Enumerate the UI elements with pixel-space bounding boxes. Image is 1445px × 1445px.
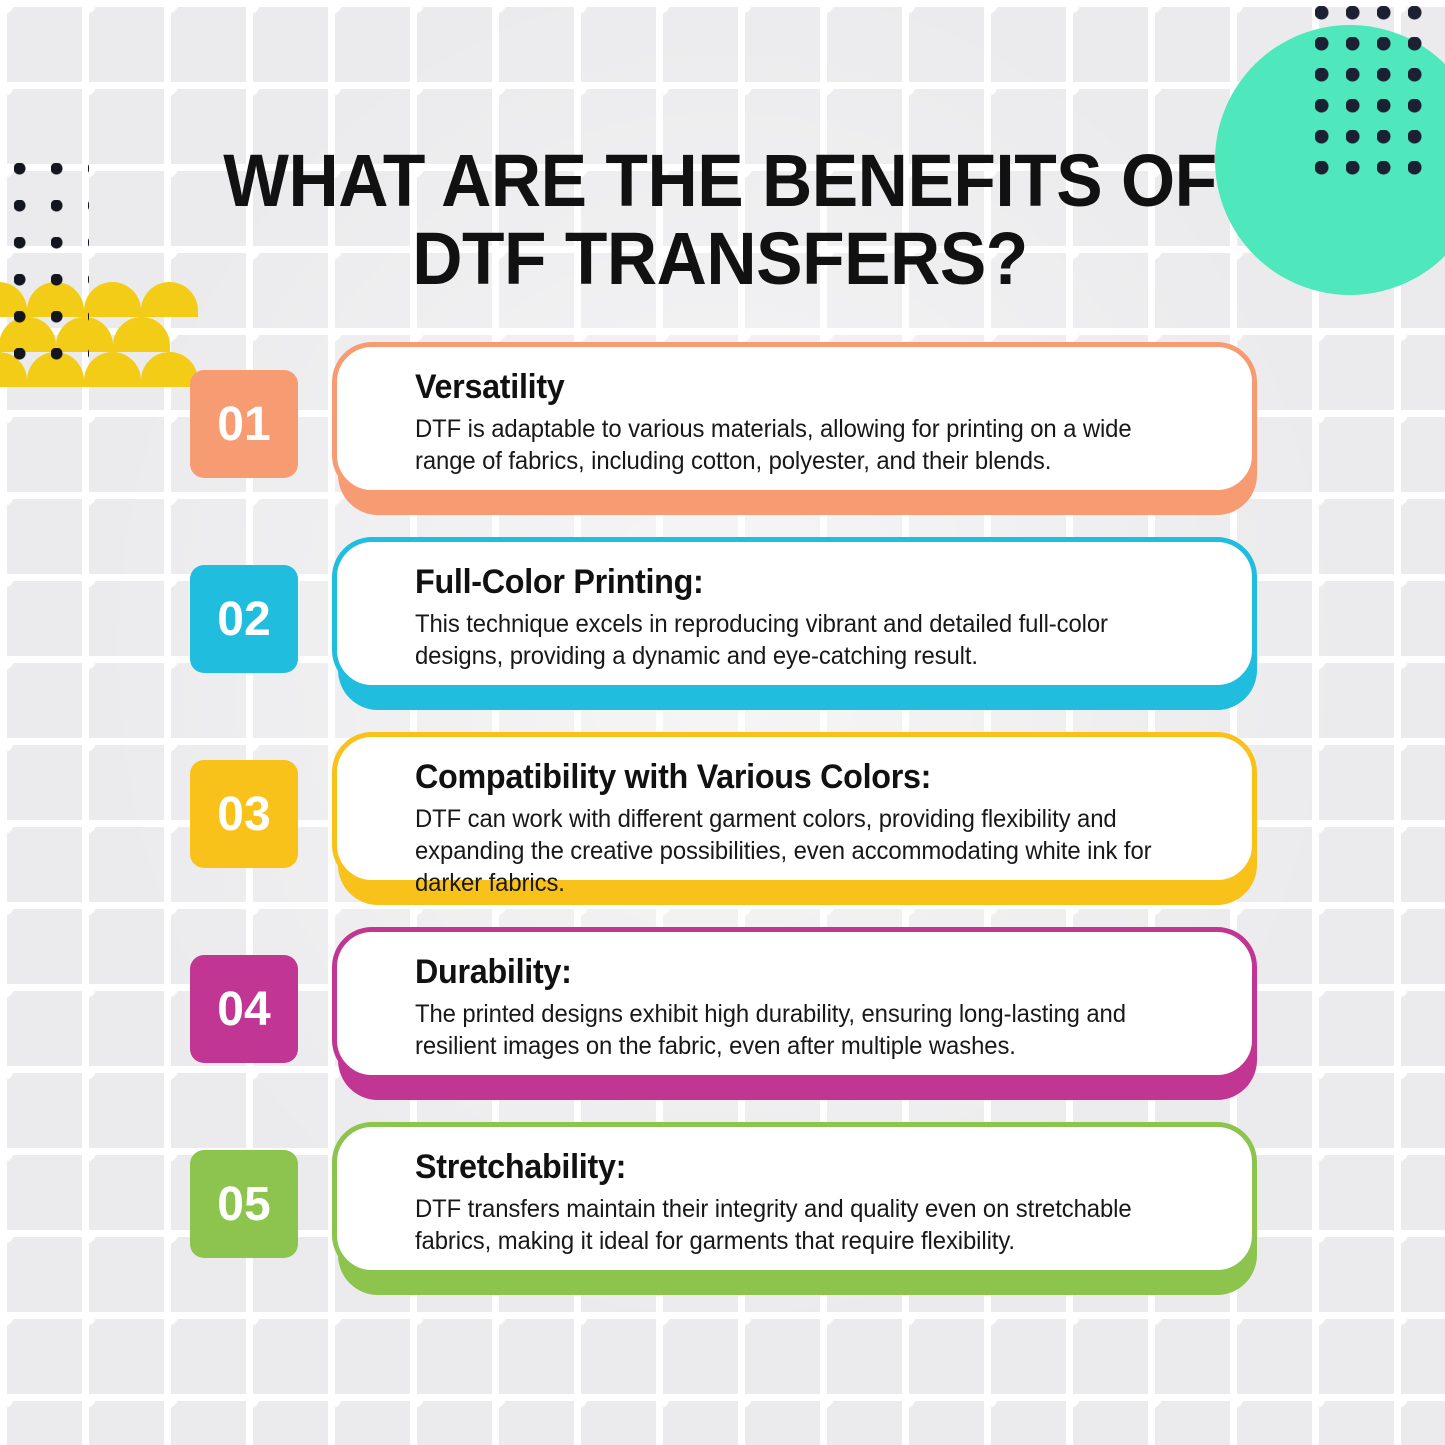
card-surface: Full-Color Printing: This technique exce… [332,537,1257,690]
card-body: DTF can work with different garment colo… [415,803,1182,899]
card-title: Stretchability: [415,1147,1178,1187]
item-number-badge-03: 03 [190,760,298,868]
benefit-card-02[interactable]: Full-Color Printing: This technique exce… [332,537,1257,707]
card-body: DTF transfers maintain their integrity a… [415,1193,1182,1257]
list-item: 04 Durability: The printed designs exhib… [0,927,1445,1122]
item-number-badge-02: 02 [190,565,298,673]
benefit-card-05[interactable]: Stretchability: DTF transfers maintain t… [332,1122,1257,1292]
dot-grid-top-right-decoration [1315,6,1439,188]
item-number-label: 04 [217,982,270,1037]
item-number-badge-05: 05 [190,1150,298,1258]
card-body: DTF is adaptable to various materials, a… [415,413,1182,477]
list-item: 03 Compatibility with Various Colors: DT… [0,732,1445,927]
item-number-badge-01: 01 [190,370,298,478]
card-title: Versatility [415,367,1178,407]
item-number-label: 02 [217,592,270,647]
card-surface: Stretchability: DTF transfers maintain t… [332,1122,1257,1275]
list-item: 02 Full-Color Printing: This technique e… [0,537,1445,732]
benefit-card-01[interactable]: Versatility DTF is adaptable to various … [332,342,1257,512]
page-title: WHAT ARE THE BENEFITS OF DTF TRANSFERS? [212,142,1227,298]
card-surface: Compatibility with Various Colors: DTF c… [332,732,1257,885]
item-number-badge-04: 04 [190,955,298,1063]
list-item: 05 Stretchability: DTF transfers maintai… [0,1122,1445,1317]
item-number-label: 05 [217,1177,270,1232]
benefits-list: 01 Versatility DTF is adaptable to vario… [0,342,1445,1317]
list-item: 01 Versatility DTF is adaptable to vario… [0,342,1445,537]
benefit-card-04[interactable]: Durability: The printed designs exhibit … [332,927,1257,1097]
card-surface: Versatility DTF is adaptable to various … [332,342,1257,495]
card-title: Compatibility with Various Colors: [415,757,1178,797]
card-title: Full-Color Printing: [415,562,1178,602]
item-number-label: 01 [217,397,270,452]
card-title: Durability: [415,952,1178,992]
card-surface: Durability: The printed designs exhibit … [332,927,1257,1080]
infographic-canvas: WHAT ARE THE BENEFITS OF DTF TRANSFERS? … [0,0,1445,1445]
item-number-label: 03 [217,787,270,842]
card-body: This technique excels in reproducing vib… [415,608,1182,672]
dot-grid-left-decoration [14,163,89,363]
benefit-card-03[interactable]: Compatibility with Various Colors: DTF c… [332,732,1257,902]
card-body: The printed designs exhibit high durabil… [415,998,1182,1062]
